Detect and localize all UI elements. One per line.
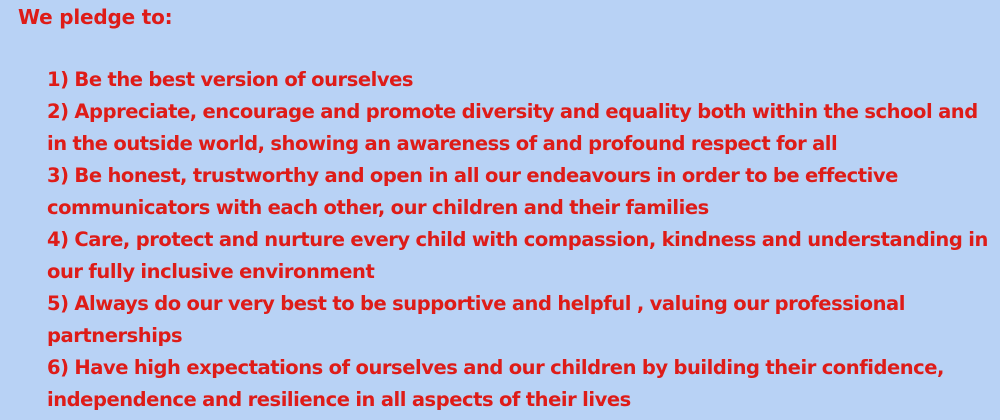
- pledge-list: 1) Be the best version of ourselves 2) A…: [47, 64, 999, 420]
- page-title: We pledge to:: [18, 2, 172, 32]
- list-item: 3) Be honest, trustworthy and open in al…: [47, 160, 999, 224]
- list-item: 6) Have high expectations of ourselves a…: [47, 352, 999, 416]
- list-item: 5) Always do our very best to be support…: [47, 288, 999, 352]
- list-item: 1) Be the best version of ourselves: [47, 64, 999, 96]
- list-item: 2) Appreciate, encourage and promote div…: [47, 96, 999, 160]
- list-item: 4) Care, protect and nurture every child…: [47, 224, 999, 288]
- list-item: 7) Provide a happy, positive environment…: [47, 416, 999, 420]
- pledge-slide: We pledge to: 1) Be the best version of …: [0, 0, 1000, 420]
